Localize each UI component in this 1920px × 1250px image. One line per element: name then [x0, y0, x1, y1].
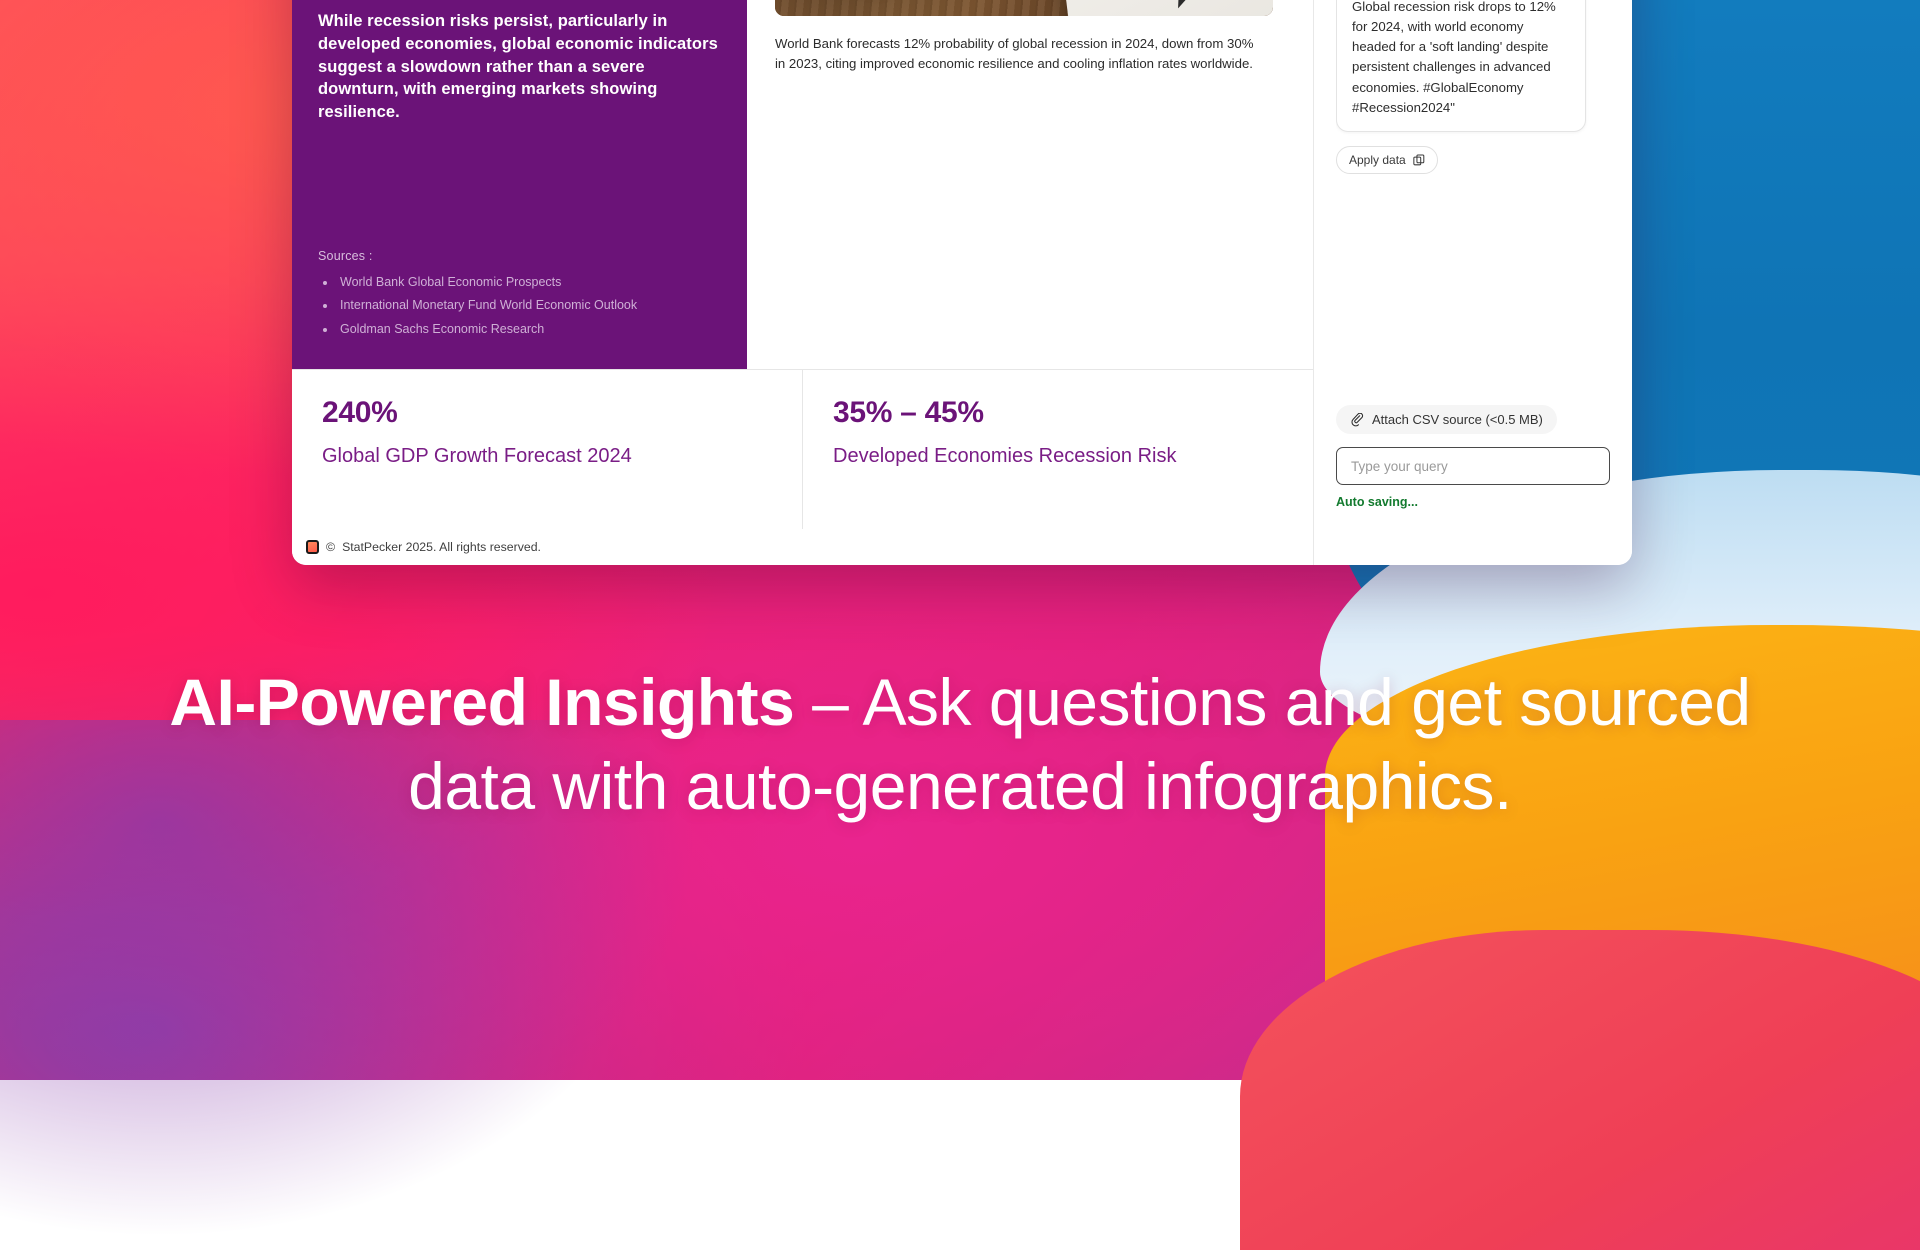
headline-bold-part: AI-Powered Insights — [169, 665, 794, 739]
source-item: International Monetary Fund World Econom… — [318, 296, 721, 315]
source-item: Goldman Sachs Economic Research — [318, 320, 721, 339]
stat-value: 35% – 45% — [833, 396, 1283, 430]
infographic-photo-column: World Bank forecasts 12% probability of … — [747, 0, 1313, 369]
chat-message-list[interactable]: and detailed information with proper sta… — [1336, 0, 1610, 405]
window-footer: © StatPecker 2025. All rights reserved. — [292, 529, 1632, 565]
infographic-canvas[interactable]: While recession risks persist, particula… — [292, 0, 1314, 529]
notepad — [1050, 0, 1273, 16]
app-window: While recession risks persist, particula… — [292, 0, 1632, 565]
infographic-purple-panel: While recession risks persist, particula… — [292, 0, 747, 369]
copyright-icon: © — [326, 540, 335, 554]
copy-icon — [1413, 154, 1425, 166]
stat-cards-row: 240% Global GDP Growth Forecast 2024 35%… — [292, 369, 1313, 529]
footer-copyright-text: StatPecker 2025. All rights reserved. — [342, 540, 541, 554]
attach-csv-label: Attach CSV source (<0.5 MB) — [1372, 412, 1543, 427]
sources-block: Sources : World Bank Global Economic Pro… — [318, 249, 721, 343]
source-item: World Bank Global Economic Prospects — [318, 273, 721, 292]
footer-branding: © StatPecker 2025. All rights reserved. — [292, 529, 1314, 565]
marketing-headline: AI-Powered Insights – Ask questions and … — [120, 660, 1800, 829]
app-body: While recession risks persist, particula… — [292, 0, 1632, 529]
wallpaper-red-wave — [1240, 930, 1920, 1250]
sources-title: Sources : — [318, 249, 721, 263]
infographic-top-region: While recession risks persist, particula… — [292, 0, 1313, 369]
stat-value: 240% — [322, 396, 772, 430]
stat-label: Developed Economies Recession Risk — [833, 443, 1283, 469]
stat-label: Global GDP Growth Forecast 2024 — [322, 443, 772, 469]
tablet-stock-chart-photo — [775, 0, 1273, 16]
photo-caption: World Bank forecasts 12% probability of … — [775, 34, 1273, 75]
autosave-status: Auto saving... — [1336, 495, 1610, 509]
apply-data-label: Apply data — [1349, 153, 1406, 167]
statpecker-logo-icon — [306, 540, 319, 554]
stat-card[interactable]: 240% Global GDP Growth Forecast 2024 — [292, 370, 803, 529]
ai-chat-panel: and detailed information with proper sta… — [1314, 0, 1632, 529]
sources-list: World Bank Global Economic Prospects Int… — [318, 273, 721, 339]
chat-row-assistant: Global recession risk drops to 12% for 2… — [1336, 0, 1610, 132]
chat-composer: Attach CSV source (<0.5 MB) Auto saving.… — [1336, 405, 1610, 529]
apply-data-button[interactable]: Apply data — [1336, 146, 1438, 174]
stat-card[interactable]: 35% – 45% Developed Economies Recession … — [803, 370, 1313, 529]
paperclip-icon — [1350, 413, 1364, 427]
chat-bubble-assistant: Global recession risk drops to 12% for 2… — [1336, 0, 1586, 132]
query-input[interactable] — [1336, 447, 1610, 485]
attach-csv-button[interactable]: Attach CSV source (<0.5 MB) — [1336, 405, 1557, 434]
infographic-summary-text: While recession risks persist, particula… — [318, 10, 721, 124]
